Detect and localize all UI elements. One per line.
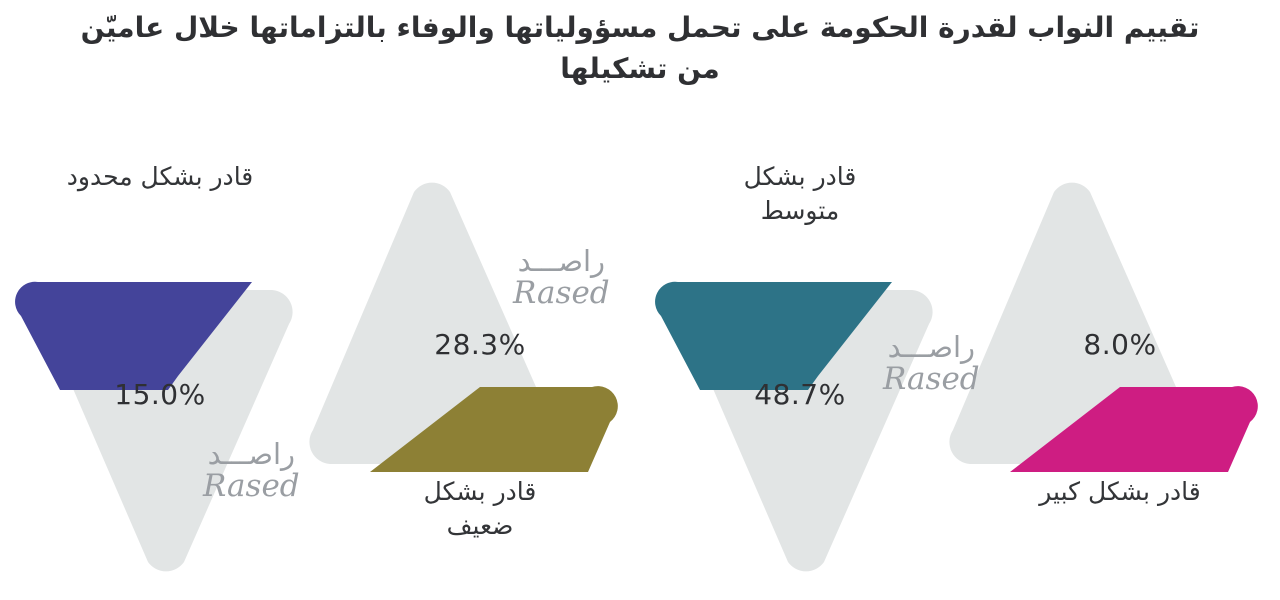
funnel-item-1[interactable]: 28.3% قادر بشكل ضعيف [320, 150, 640, 600]
funnel-item-3[interactable]: 8.0% قادر بشكل كبير [960, 150, 1280, 600]
funnel-value-0: 15.0% [0, 378, 320, 411]
funnel-shape-3 [960, 150, 1280, 600]
funnel-shape-2 [640, 150, 960, 600]
funnel-chart: قادر بشكل محدود 15.0% 28.3% قادر بشكل ضع… [0, 150, 1280, 600]
funnel-shape-0 [0, 150, 320, 600]
funnel-value-3: 8.0% [960, 328, 1280, 361]
funnel-item-0[interactable]: قادر بشكل محدود 15.0% [0, 150, 320, 600]
funnel-value-1: 28.3% [320, 328, 640, 361]
page-title: تقييم النواب لقدرة الحكومة على تحمل مسؤو… [0, 8, 1280, 89]
funnel-item-2[interactable]: قادر بشكل متوسط 48.7% [640, 150, 960, 600]
funnel-value-2: 48.7% [640, 378, 960, 411]
funnel-label-1: قادر بشكل ضعيف [320, 475, 640, 543]
funnel-label-3: قادر بشكل كبير [960, 475, 1280, 509]
